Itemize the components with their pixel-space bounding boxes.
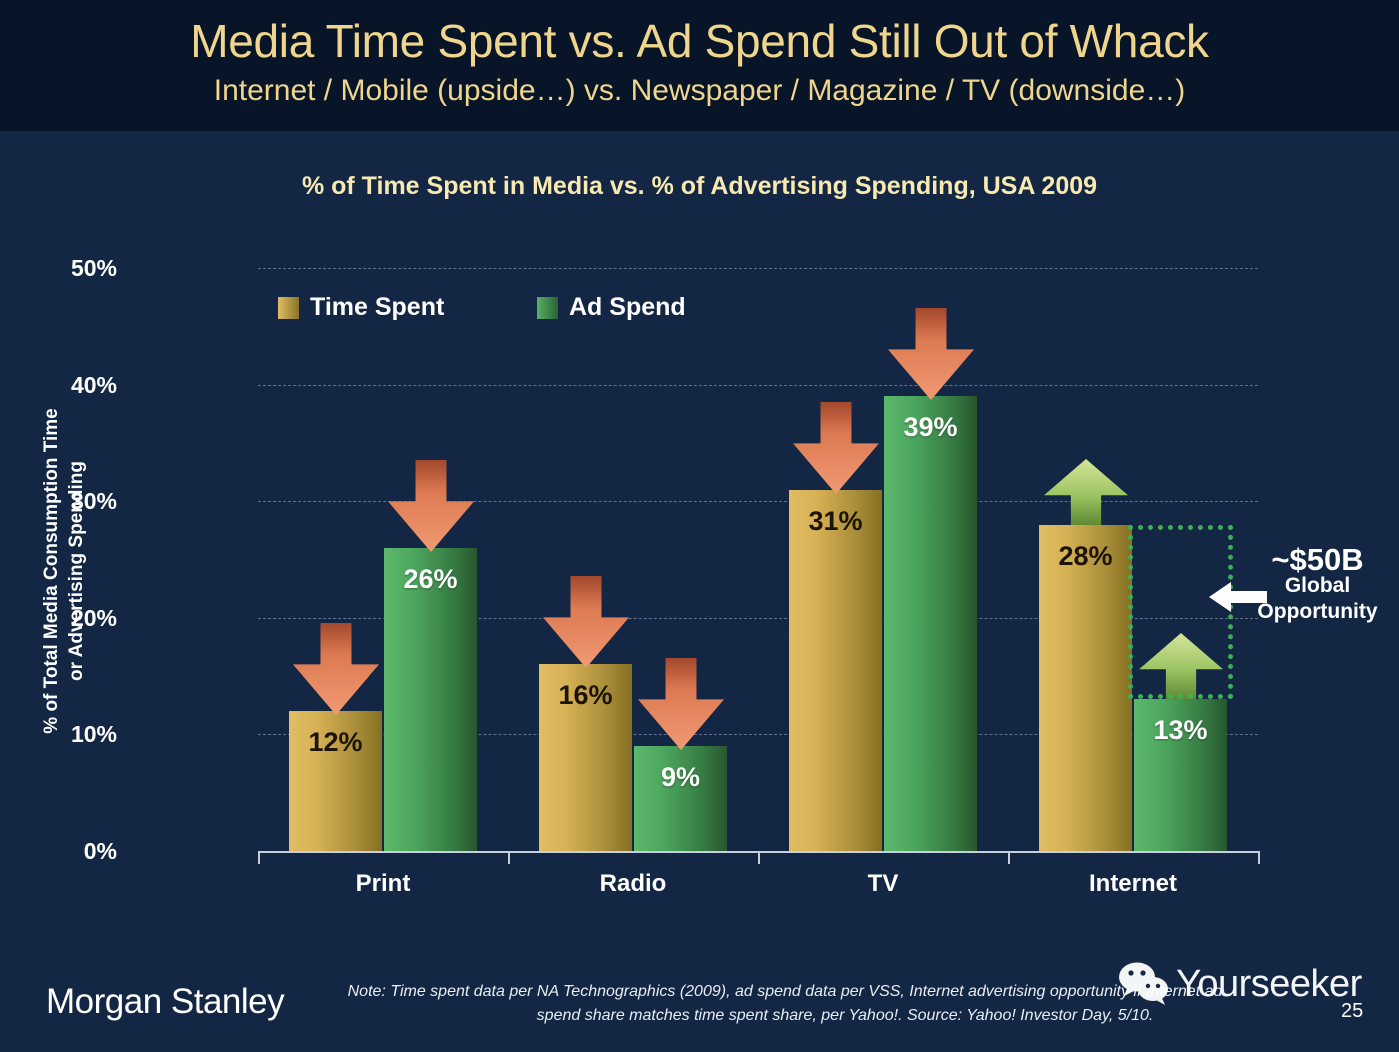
bar-tv-time-spent: 31% [789,490,882,851]
bar-tv-ad-spend: 39% [884,396,977,851]
legend-swatch [278,297,299,319]
down-arrow-0 [293,623,379,715]
bar-print-ad-spend: 26% [384,548,477,851]
legend-swatch [537,297,558,319]
y-axis-tick-label: 10% [0,721,117,748]
category-label-radio: Radio [508,870,758,898]
plot-area: 12%16%31%28%26%9%39%13% [258,268,1258,851]
bar-value-label: 9% [634,762,727,793]
callout-line-3: Opportunity [1240,599,1395,625]
watermark-text: Yourseeker [1176,963,1362,1006]
down-arrow-2 [543,576,629,668]
y-axis-tick-label: 20% [0,605,117,632]
y-axis-tick-label: 50% [0,255,117,282]
bar-radio-ad-spend: 9% [634,746,727,851]
bar-internet-time-spent: 28% [1039,525,1132,851]
legend-label: Ad Spend [569,293,686,322]
bar-value-label: 13% [1134,715,1227,746]
callout-line-2: Global [1240,573,1395,599]
legend-item-ad-spend: Ad Spend [537,293,686,322]
down-arrow-3 [638,658,724,750]
bar-value-label: 28% [1039,541,1132,572]
down-arrow-4 [793,402,879,494]
x-axis-tick [508,851,510,864]
y-axis-tick-label: 0% [0,838,117,865]
x-axis-tick [1008,851,1010,864]
bar-value-label: 39% [884,412,977,443]
y-axis-tick-label: 40% [0,372,117,399]
down-arrow-1 [388,460,474,552]
morgan-stanley-logo: Morgan Stanley [46,982,284,1022]
slide: Media Time Spent vs. Ad Spend Still Out … [0,0,1399,1052]
bar-value-label: 26% [384,564,477,595]
watermark: Yourseeker [1118,962,1362,1006]
bar-print-time-spent: 12% [289,711,382,851]
page-subtitle: Internet / Mobile (upside…) vs. Newspape… [0,74,1399,108]
legend-item-time-spent: Time Spent [278,293,444,322]
x-axis-tick [1258,851,1260,864]
category-label-tv: TV [758,870,1008,898]
x-axis-tick [258,851,260,864]
bar-internet-ad-spend: 13% [1134,699,1227,851]
callout-amount: ~$50B [1240,547,1395,573]
up-arrow-6 [1044,459,1128,525]
page-title: Media Time Spent vs. Ad Spend Still Out … [0,14,1399,68]
opportunity-callout: ~$50B Global Opportunity [1240,547,1395,625]
bar-radio-time-spent: 16% [539,664,632,851]
category-label-print: Print [258,870,508,898]
x-axis-tick [758,851,760,864]
down-arrow-5 [888,308,974,400]
chart-title: % of Time Spent in Media vs. % of Advert… [0,172,1399,201]
bar-value-label: 31% [789,506,882,537]
legend-label: Time Spent [310,293,444,322]
wechat-icon [1118,962,1170,1006]
bar-value-label: 16% [539,680,632,711]
y-axis-tick-label: 30% [0,488,117,515]
category-label-internet: Internet [1008,870,1258,898]
bar-value-label: 12% [289,727,382,758]
footnote-line-2: spend share matches time spent share, pe… [310,1004,1260,1028]
